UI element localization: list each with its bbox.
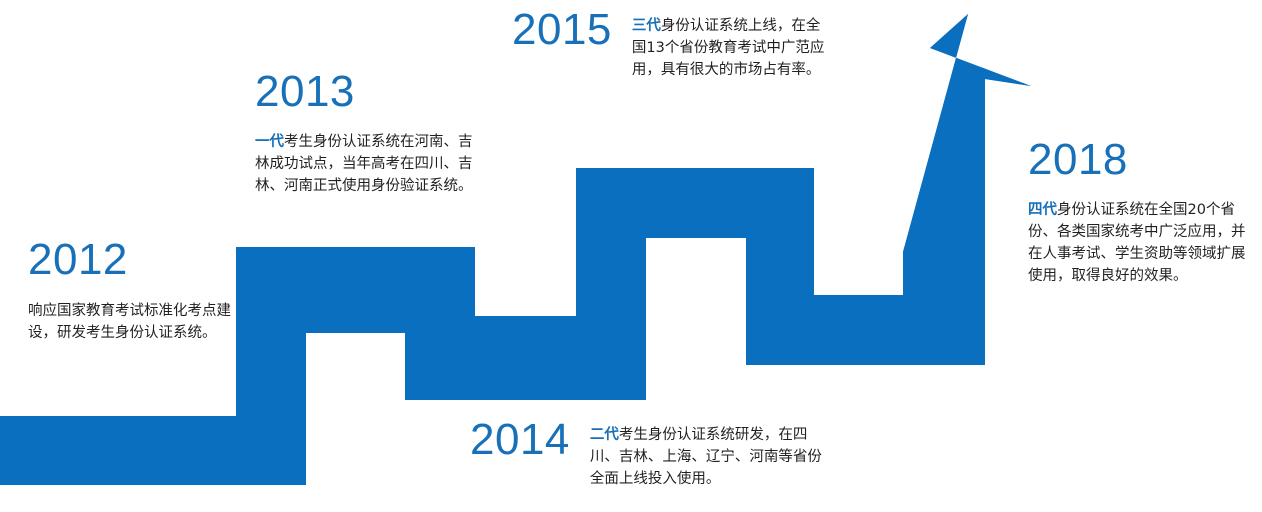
- milestone-2018-text: 身份认证系统在全国20个省份、各类国家统考中广泛应用，并在人事考试、学生资助等领…: [1028, 202, 1246, 284]
- milestone-2018-generation-label: 四代: [1028, 202, 1057, 218]
- milestone-2014-generation-label: 二代: [590, 427, 619, 443]
- milestone-2018-year: 2018: [1028, 138, 1253, 182]
- milestone-2015: 2015 三代身份认证系统上线，在全国13个省份教育考试中广范应用，具有很大的市…: [512, 8, 862, 81]
- milestone-2015-description: 三代身份认证系统上线，在全国13个省份教育考试中广范应用，具有很大的市场占有率。: [632, 8, 832, 81]
- step-riser-5: [746, 238, 814, 365]
- milestone-2018-description: 四代身份认证系统在全国20个省份、各类国家统考中广泛应用，并在人事考试、学生资助…: [1028, 199, 1253, 287]
- milestone-2013: 2013 一代考生身份认证系统在河南、吉林成功试点，当年高考在四川、吉林、河南正…: [255, 70, 477, 197]
- milestone-2013-generation-label: 一代: [255, 134, 284, 150]
- milestone-2015-generation-label: 三代: [632, 18, 661, 34]
- milestone-2013-year: 2013: [255, 70, 477, 114]
- milestone-2013-description: 一代考生身份认证系统在河南、吉林成功试点，当年高考在四川、吉林、河南正式使用身份…: [255, 131, 477, 197]
- milestone-2012-description: 响应国家教育考试标准化考点建设，研发考生身份认证系统。: [28, 300, 243, 344]
- milestone-2012-year: 2012: [28, 238, 243, 282]
- milestone-2015-year: 2015: [512, 8, 612, 52]
- timeline-infographic: 2012 响应国家教育考试标准化考点建设，研发考生身份认证系统。 2013 一代…: [0, 0, 1262, 512]
- step-riser-3: [405, 316, 475, 400]
- milestone-2012: 2012 响应国家教育考试标准化考点建设，研发考生身份认证系统。: [28, 238, 243, 344]
- milestone-2014: 2014 二代考生身份认证系统研发，在四川、吉林、上海、辽宁、河南等省份全面上线…: [470, 418, 850, 490]
- milestone-2013-text: 考生身份认证系统在河南、吉林成功试点，当年高考在四川、吉林、河南正式使用身份验证…: [255, 134, 473, 194]
- milestone-2015-text: 身份认证系统上线，在全国13个省份教育考试中广范应用，具有很大的市场占有率。: [632, 18, 824, 78]
- step-riser-2: [236, 247, 306, 485]
- milestone-2014-description: 二代考生身份认证系统研发，在四川、吉林、上海、辽宁、河南等省份全面上线投入使用。: [590, 418, 835, 490]
- milestone-2018: 2018 四代身份认证系统在全国20个省份、各类国家统考中广泛应用，并在人事考试…: [1028, 138, 1253, 287]
- milestone-2014-year: 2014: [470, 418, 570, 462]
- step-riser-4: [576, 168, 646, 400]
- milestone-2012-text: 响应国家教育考试标准化考点建设，研发考生身份认证系统。: [28, 303, 231, 341]
- milestone-2014-text: 考生身份认证系统研发，在四川、吉林、上海、辽宁、河南等省份全面上线投入使用。: [590, 427, 822, 487]
